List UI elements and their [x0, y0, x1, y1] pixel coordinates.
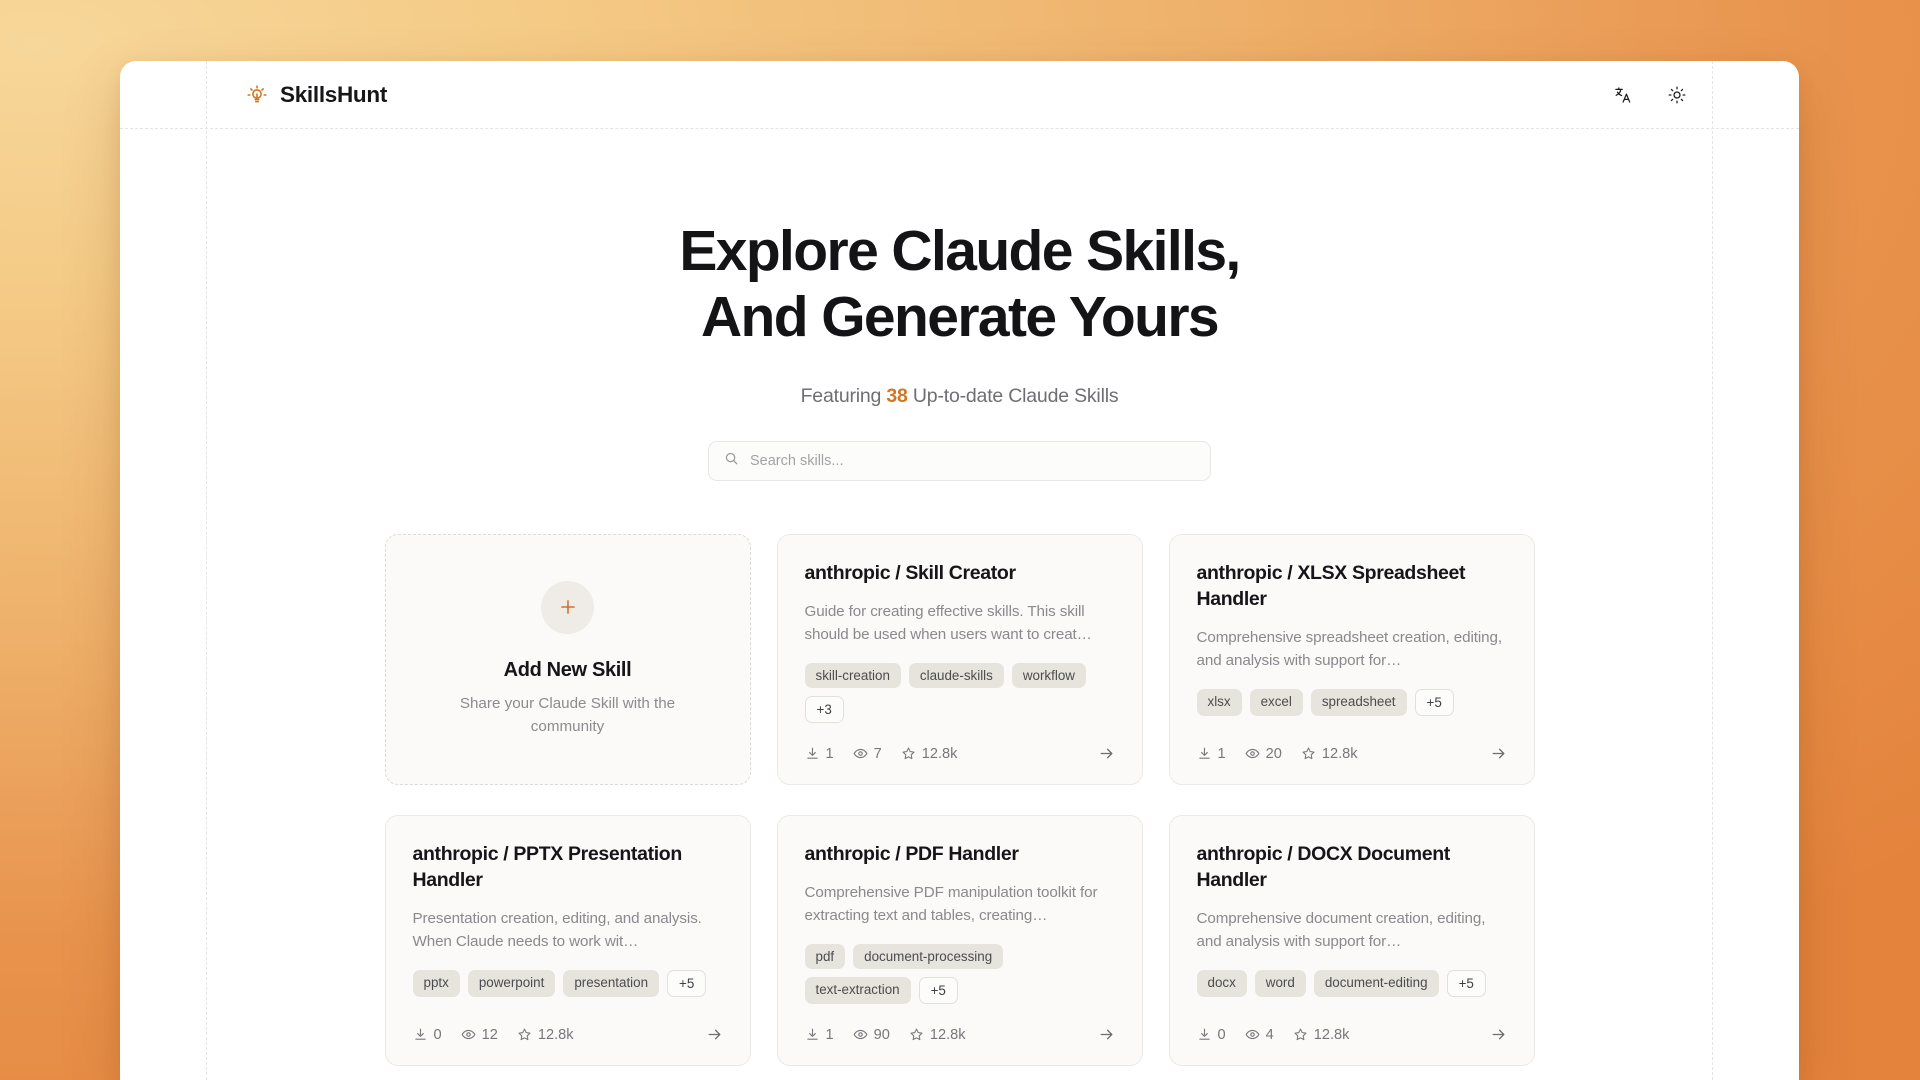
download-icon	[1197, 1027, 1212, 1042]
open-skill-arrow-icon[interactable]	[1098, 745, 1115, 762]
skill-tags: docx word document-editing +5	[1197, 970, 1507, 997]
download-icon	[805, 1027, 820, 1042]
translate-icon[interactable]	[1611, 83, 1635, 107]
download-icon	[805, 746, 820, 761]
subtitle-prefix: Featuring	[801, 385, 887, 407]
skill-description: Comprehensive document creation, editing…	[1197, 907, 1507, 953]
star-icon	[1293, 1027, 1308, 1042]
star-icon	[517, 1027, 532, 1042]
stars-stat: 12.8k	[1301, 746, 1358, 762]
views-count: 7	[874, 746, 882, 762]
hero-subtitle: Featuring 38 Up-to-date Claude Skills	[120, 385, 1799, 408]
skill-tag[interactable]: excel	[1250, 689, 1303, 716]
skill-tag[interactable]: claude-skills	[909, 663, 1004, 688]
headline-line-2: And Generate Yours	[701, 285, 1218, 349]
lightbulb-icon	[245, 83, 269, 107]
views-stat: 12	[461, 1027, 498, 1043]
skill-card-footer: 0 4 12.8k	[1197, 1004, 1507, 1043]
eye-icon	[853, 746, 868, 761]
skill-tag[interactable]: document-editing	[1314, 970, 1439, 997]
skill-tag[interactable]: xlsx	[1197, 689, 1242, 716]
skill-card[interactable]: anthropic / PPTX Presentation Handler Pr…	[385, 815, 751, 1066]
skill-tag[interactable]: text-extraction	[805, 977, 911, 1004]
download-stat: 1	[1197, 746, 1226, 762]
views-stat: 7	[853, 746, 882, 762]
skill-description: Comprehensive spreadsheet creation, edit…	[1197, 626, 1507, 672]
brand-name: SkillsHunt	[280, 82, 387, 108]
skill-tags: skill-creation claude-skills workflow +3	[805, 663, 1115, 723]
skill-tag[interactable]: presentation	[563, 970, 659, 997]
download-icon	[413, 1027, 428, 1042]
skill-card-footer: 1 90 12.8k	[805, 1004, 1115, 1043]
skill-tag[interactable]: powerpoint	[468, 970, 556, 997]
more-tags-badge[interactable]: +5	[919, 977, 958, 1004]
more-tags-badge[interactable]: +5	[667, 970, 706, 997]
skill-tag[interactable]: skill-creation	[805, 663, 901, 688]
skill-title: anthropic / DOCX Document Handler	[1197, 842, 1507, 893]
skill-card-footer: 1 7 12.8k	[805, 723, 1115, 762]
skill-card-footer: 0 12 12.8k	[413, 1004, 723, 1043]
search-input[interactable]	[750, 453, 1195, 469]
more-tags-badge[interactable]: +5	[1415, 689, 1454, 716]
skill-tags: pptx powerpoint presentation +5	[413, 970, 723, 997]
search-box[interactable]	[708, 441, 1211, 481]
skill-card[interactable]: anthropic / XLSX Spreadsheet Handler Com…	[1169, 534, 1535, 785]
skill-card[interactable]: anthropic / Skill Creator Guide for crea…	[777, 534, 1143, 785]
views-count: 90	[874, 1027, 890, 1043]
page-title: Explore Claude Skills, And Generate Your…	[120, 218, 1799, 350]
skill-tags: xlsx excel spreadsheet +5	[1197, 689, 1507, 716]
app-window: SkillsHunt Explore Claude Skills, And	[120, 61, 1799, 1080]
add-card-title: Add New Skill	[504, 659, 632, 682]
skill-title: anthropic / PPTX Presentation Handler	[413, 842, 723, 893]
views-count: 20	[1266, 746, 1282, 762]
skill-title: anthropic / PDF Handler	[805, 842, 1115, 868]
skill-tag[interactable]: docx	[1197, 970, 1247, 997]
stars-stat: 12.8k	[517, 1027, 574, 1043]
subtitle-suffix: Up-to-date Claude Skills	[908, 385, 1119, 407]
open-skill-arrow-icon[interactable]	[706, 1026, 723, 1043]
star-icon	[1301, 746, 1316, 761]
skill-card[interactable]: anthropic / PDF Handler Comprehensive PD…	[777, 815, 1143, 1066]
brand[interactable]: SkillsHunt	[245, 82, 387, 108]
more-tags-badge[interactable]: +3	[805, 696, 844, 723]
skill-tag[interactable]: word	[1255, 970, 1306, 997]
download-icon	[1197, 746, 1212, 761]
plus-icon	[541, 581, 594, 634]
skill-description: Presentation creation, editing, and anal…	[413, 907, 723, 953]
headline-line-1: Explore Claude Skills,	[679, 219, 1239, 283]
download-count: 1	[826, 1027, 834, 1043]
header-actions	[1611, 83, 1689, 107]
stars-stat: 12.8k	[1293, 1027, 1350, 1043]
more-tags-badge[interactable]: +5	[1447, 970, 1486, 997]
eye-icon	[461, 1027, 476, 1042]
skill-tag[interactable]: document-processing	[853, 944, 1003, 969]
skill-stats: 1 20 12.8k	[1197, 746, 1358, 762]
app-header: SkillsHunt	[120, 61, 1799, 128]
eye-icon	[1245, 1027, 1260, 1042]
skill-description: Comprehensive PDF manipulation toolkit f…	[805, 881, 1115, 927]
download-stat: 0	[413, 1027, 442, 1043]
star-icon	[909, 1027, 924, 1042]
skill-tag[interactable]: spreadsheet	[1311, 689, 1407, 716]
download-count: 1	[826, 746, 834, 762]
sun-icon[interactable]	[1665, 83, 1689, 107]
open-skill-arrow-icon[interactable]	[1098, 1026, 1115, 1043]
main-content: Explore Claude Skills, And Generate Your…	[120, 128, 1799, 1066]
skills-grid: Add New Skill Share your Claude Skill wi…	[385, 534, 1535, 1066]
eye-icon	[853, 1027, 868, 1042]
skill-stats: 1 90 12.8k	[805, 1027, 966, 1043]
skill-stats: 0 4 12.8k	[1197, 1027, 1350, 1043]
views-stat: 20	[1245, 746, 1282, 762]
open-skill-arrow-icon[interactable]	[1490, 1026, 1507, 1043]
add-card-description: Share your Claude Skill with the communi…	[428, 693, 708, 739]
skill-stats: 0 12 12.8k	[413, 1027, 574, 1043]
download-stat: 0	[1197, 1027, 1226, 1043]
skill-description: Guide for creating effective skills. Thi…	[805, 600, 1115, 646]
skill-stats: 1 7 12.8k	[805, 746, 958, 762]
open-skill-arrow-icon[interactable]	[1490, 745, 1507, 762]
views-count: 12	[482, 1027, 498, 1043]
search-icon	[724, 451, 739, 471]
download-stat: 1	[805, 746, 834, 762]
stars-count: 12.8k	[538, 1027, 574, 1043]
views-stat: 90	[853, 1027, 890, 1043]
stars-count: 12.8k	[922, 746, 958, 762]
download-count: 0	[434, 1027, 442, 1043]
eye-icon	[1245, 746, 1260, 761]
views-stat: 4	[1245, 1027, 1274, 1043]
skill-tag[interactable]: pdf	[805, 944, 846, 969]
skill-tag[interactable]: pptx	[413, 970, 460, 997]
stars-count: 12.8k	[1322, 746, 1358, 762]
stars-count: 12.8k	[930, 1027, 966, 1043]
add-new-skill-card[interactable]: Add New Skill Share your Claude Skill wi…	[385, 534, 751, 785]
download-count: 1	[1218, 746, 1226, 762]
hero-section: Explore Claude Skills, And Generate Your…	[120, 128, 1799, 408]
skill-card-footer: 1 20 12.8k	[1197, 723, 1507, 762]
star-icon	[901, 746, 916, 761]
skill-tags: pdf document-processing text-extraction …	[805, 944, 1115, 1004]
skill-card[interactable]: anthropic / DOCX Document Handler Compre…	[1169, 815, 1535, 1066]
skill-tag[interactable]: workflow	[1012, 663, 1086, 688]
download-stat: 1	[805, 1027, 834, 1043]
stars-stat: 12.8k	[909, 1027, 966, 1043]
views-count: 4	[1266, 1027, 1274, 1043]
skill-title: anthropic / XLSX Spreadsheet Handler	[1197, 561, 1507, 612]
search-section	[708, 441, 1211, 481]
stars-stat: 12.8k	[901, 746, 958, 762]
skill-title: anthropic / Skill Creator	[805, 561, 1115, 587]
download-count: 0	[1218, 1027, 1226, 1043]
stars-count: 12.8k	[1314, 1027, 1350, 1043]
skill-count: 38	[886, 385, 907, 407]
